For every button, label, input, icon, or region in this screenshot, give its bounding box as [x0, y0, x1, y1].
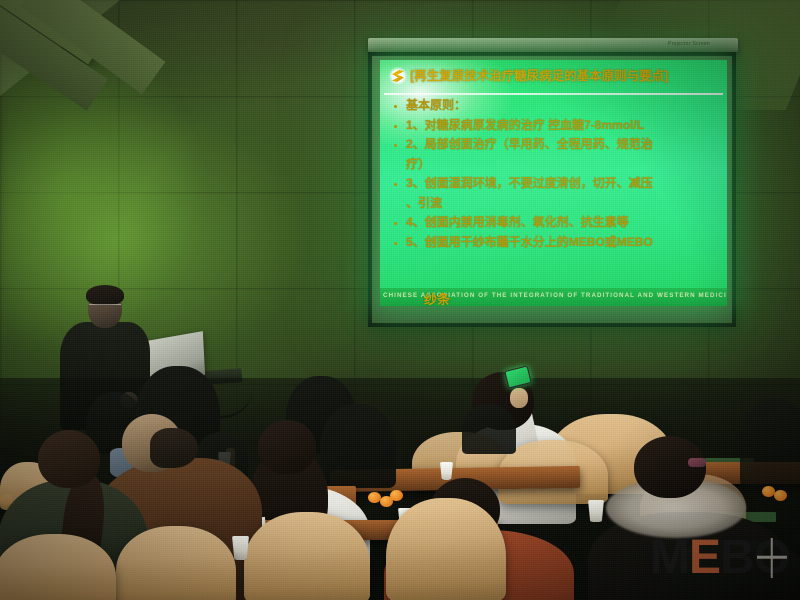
- slide-title-band: [再生复原技术治疗糖尿病足的基本原则与要点]: [380, 60, 727, 94]
- slide-bullet: 3、创面湿润环境，不要过度清创，切开、减压: [388, 176, 721, 192]
- slide-title: [再生复原技术治疗糖尿病足的基本原则与要点]: [410, 68, 721, 84]
- paper-cup: [232, 536, 249, 560]
- chair: [116, 526, 236, 600]
- person-head: [38, 430, 100, 488]
- presentation-slide: [再生复原技术治疗糖尿病足的基本原则与要点] 基本原则： 1、对糖尿病原发病的治…: [380, 60, 727, 306]
- slide-bullet: 2、局部创面治疗（早用药、全程用药、规范治: [388, 137, 721, 153]
- conference-photo: Projector Screen [再生复原技术治疗糖尿病足的基本原则与要点] …: [0, 0, 800, 600]
- slide-bullet: 4、创面内禁用消毒剂、氧化剂、抗生素等: [388, 215, 721, 231]
- mebo-swoosh-icon: [388, 67, 408, 85]
- slide-footer-chinese: 纱条: [424, 289, 450, 306]
- person-head: [258, 420, 316, 474]
- glasses-icon: [89, 304, 121, 311]
- person-hand: [510, 388, 528, 408]
- slide-footer-band: CHINESE ASSOCIATION OF THE INTEGRATION O…: [380, 288, 727, 306]
- slide-bullet: 基本原则：: [388, 98, 721, 114]
- projector-screen-housing: Projector Screen: [368, 38, 738, 52]
- hair-clip-icon: [688, 458, 706, 467]
- person-head: [634, 436, 706, 498]
- slide-bullet-wrap: 、引流: [388, 196, 721, 212]
- slide-bullet: 5、创面用干纱布蘸干水分上的MEBO或MEBO: [388, 235, 721, 251]
- audience-silhouette: [462, 404, 516, 454]
- watermark-letter-o: O: [754, 534, 790, 582]
- mebo-watermark: MEBO: [650, 534, 790, 582]
- housing-brand-label: Projector Screen: [668, 41, 710, 47]
- slide-title-divider: [384, 93, 723, 95]
- slide-bullet: 1、对糖尿病原发病的治疗 控血糖7-8mmol/L: [388, 118, 721, 134]
- watermark-letter-m: M: [650, 531, 689, 584]
- slide-body: 基本原则： 1、对糖尿病原发病的治疗 控血糖7-8mmol/L 2、局部创面治疗…: [388, 98, 721, 280]
- watermark-letter-b: B: [720, 531, 754, 584]
- paper-cup: [588, 500, 604, 522]
- watermark-letter-e: E: [689, 531, 720, 584]
- chair: [244, 512, 370, 600]
- chair: [386, 498, 506, 600]
- presenter-hair: [86, 285, 124, 305]
- slide-bullet-wrap: 疗）: [388, 157, 721, 173]
- person-hair: [150, 428, 198, 468]
